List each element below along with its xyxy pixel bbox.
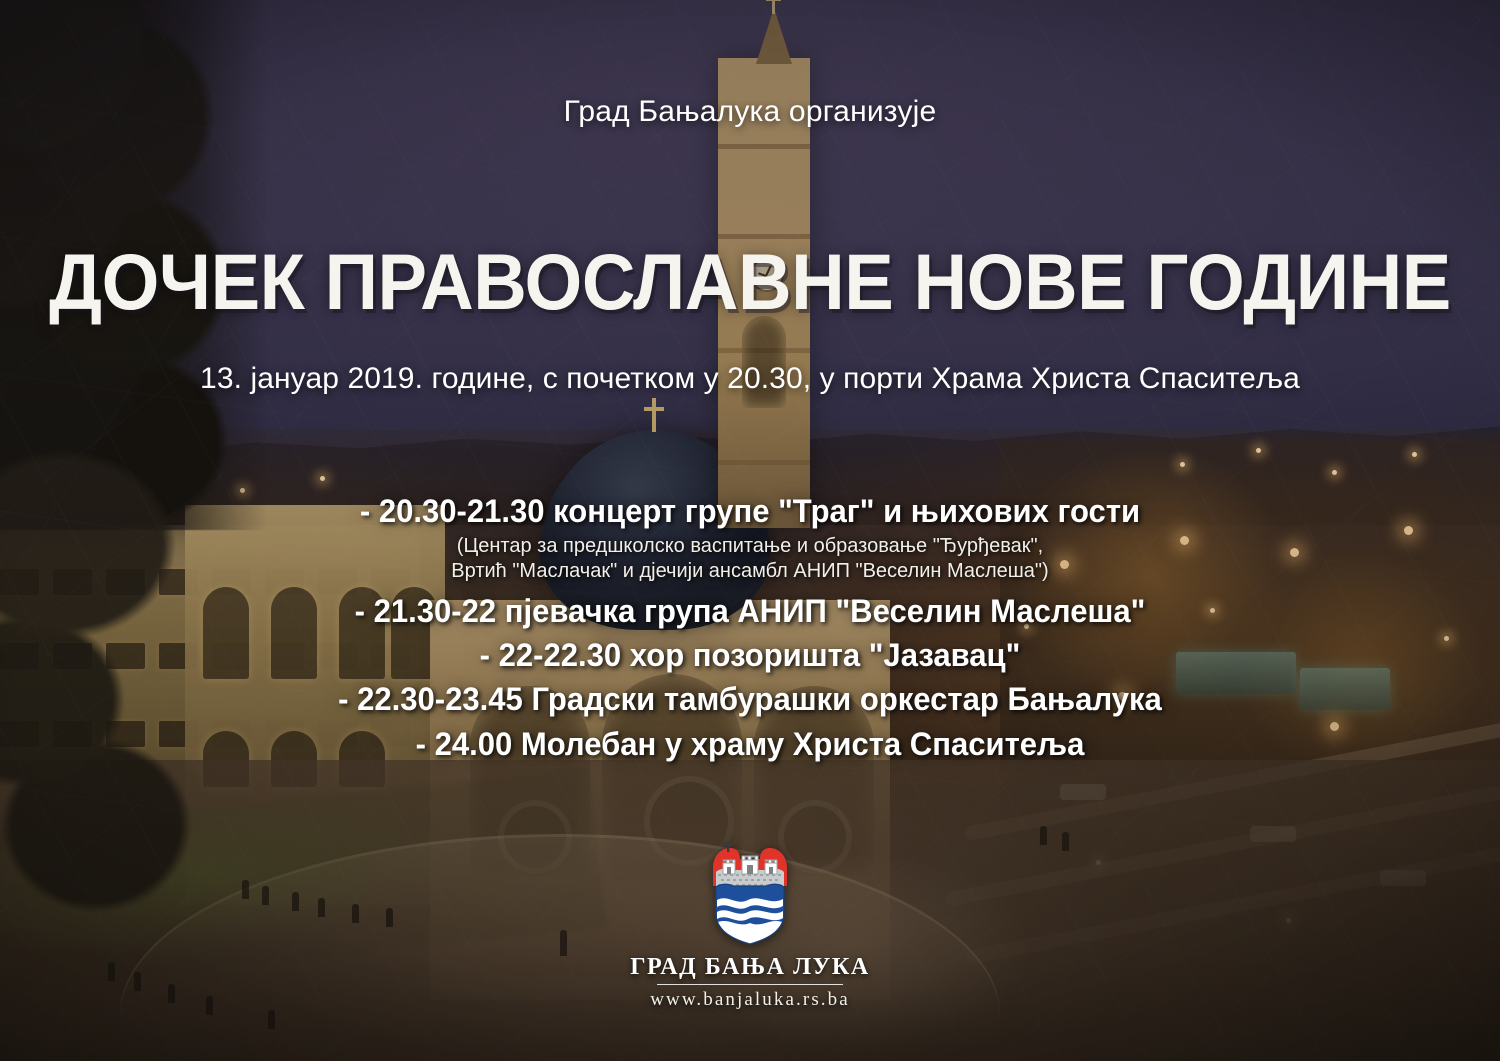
program-item: - 24.00 Молебан у храму Христа Спаситеља bbox=[23, 727, 1478, 761]
city-logo: ГРАД БАЊА ЛУКА www.banjaluka.rs.ba bbox=[0, 842, 1500, 1011]
banja-luka-coat-of-arms-icon bbox=[706, 842, 794, 946]
program-item: - 21.30-22 пјевачка група АНИП "Веселин … bbox=[23, 594, 1478, 628]
page-title: ДОЧЕК ПРАВОСЛАВНЕ НОВЕ ГОДИНЕ bbox=[45, 242, 1455, 321]
city-logo-name: ГРАД БАЊА ЛУКА bbox=[630, 954, 870, 981]
program-item: - 20.30-21.30 концерт групе "Траг" и њих… bbox=[23, 494, 1478, 528]
program-item-note: (Центар за предшколско васпитање и образ… bbox=[0, 534, 1500, 558]
program-item: - 22.30-23.45 Градски тамбурашки оркеста… bbox=[23, 682, 1478, 716]
organizer-line: Град Бањалука организује bbox=[0, 95, 1500, 129]
poster-content: Град Бањалука организује ДОЧЕК ПРАВОСЛАВ… bbox=[0, 0, 1500, 1061]
program-item: - 22-22.30 хор позоришта "Јазавац" bbox=[23, 638, 1478, 672]
program-item-note: Вртић "Маслачак" и дјечији ансамбл АНИП … bbox=[0, 559, 1500, 583]
program-list: - 20.30-21.30 концерт групе "Траг" и њих… bbox=[0, 494, 1500, 761]
city-website-url[interactable]: www.banjaluka.rs.ba bbox=[650, 989, 850, 1011]
date-time-venue-line: 13. јануар 2019. године, с почетком у 20… bbox=[0, 362, 1500, 396]
poster-root: Град Бањалука организује ДОЧЕК ПРАВОСЛАВ… bbox=[0, 0, 1500, 1061]
logo-divider bbox=[657, 984, 843, 985]
